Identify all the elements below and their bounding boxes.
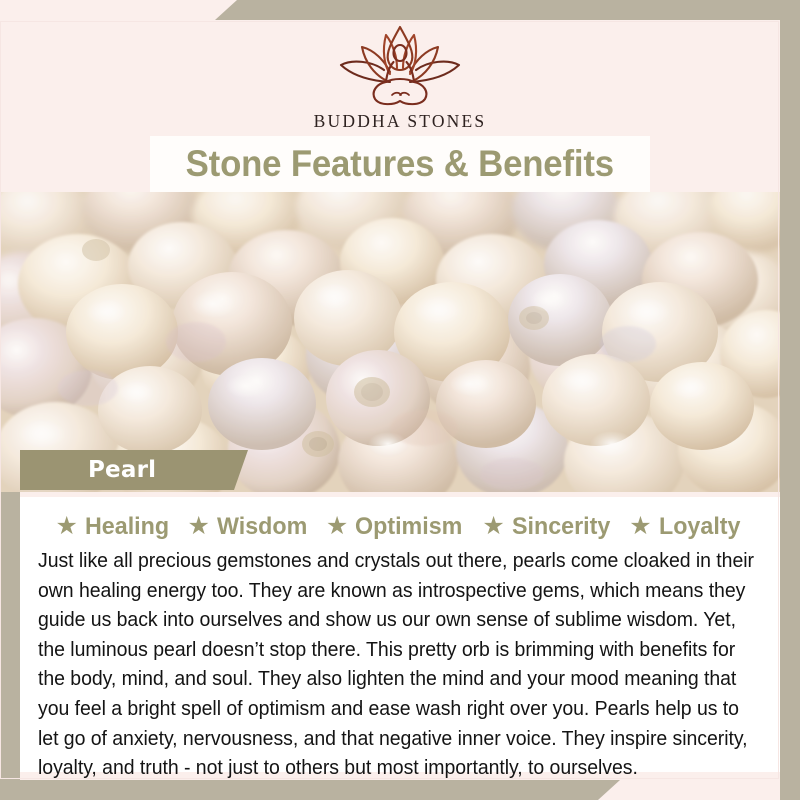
star-icon: ★ [56,514,78,539]
hero-photo [0,192,780,492]
brand-logo: BUDDHA STONES [0,22,800,132]
lotus-meditation-icon [334,22,466,108]
content-card: ★ Healing ★ Wisdom ★ Optimism ★ Sincerit… [20,497,780,772]
brand-name: BUDDHA STONES [0,111,800,132]
frame-left-bar [0,480,20,800]
poster-header: BUDDHA STONES Stone Features & Benefits [0,0,800,192]
title-plaque: Stone Features & Benefits [150,136,650,192]
star-icon: ★ [326,514,348,539]
star-icon: ★ [187,514,209,539]
benefit-item: ★ Optimism [326,513,468,541]
page-title: Stone Features & Benefits [186,143,614,185]
benefit-label-healing: Healing [85,513,169,541]
benefit-item: ★ Loyalty [629,513,744,541]
poster-canvas: BUDDHA STONES Stone Features & Benefits [0,0,800,800]
benefit-label-loyalty: Loyalty [659,513,740,541]
benefit-label-optimism: Optimism [355,513,462,541]
benefit-item: ★ Sincerity [482,513,615,541]
stone-name-chip: Pearl [20,450,248,490]
stone-name: Pearl [88,457,156,483]
description-paragraph: Just like all precious gemstones and cry… [38,547,764,784]
benefit-label-wisdom: Wisdom [217,513,307,541]
benefit-item: ★ Wisdom [187,513,311,541]
benefit-item: ★ Healing [56,513,174,541]
benefits-row: ★ Healing ★ Wisdom ★ Optimism ★ Sincerit… [20,513,780,541]
star-icon: ★ [629,514,651,539]
pearl-pile-illustration [0,192,780,492]
star-icon: ★ [482,514,504,539]
benefit-label-sincerity: Sincerity [512,513,610,541]
